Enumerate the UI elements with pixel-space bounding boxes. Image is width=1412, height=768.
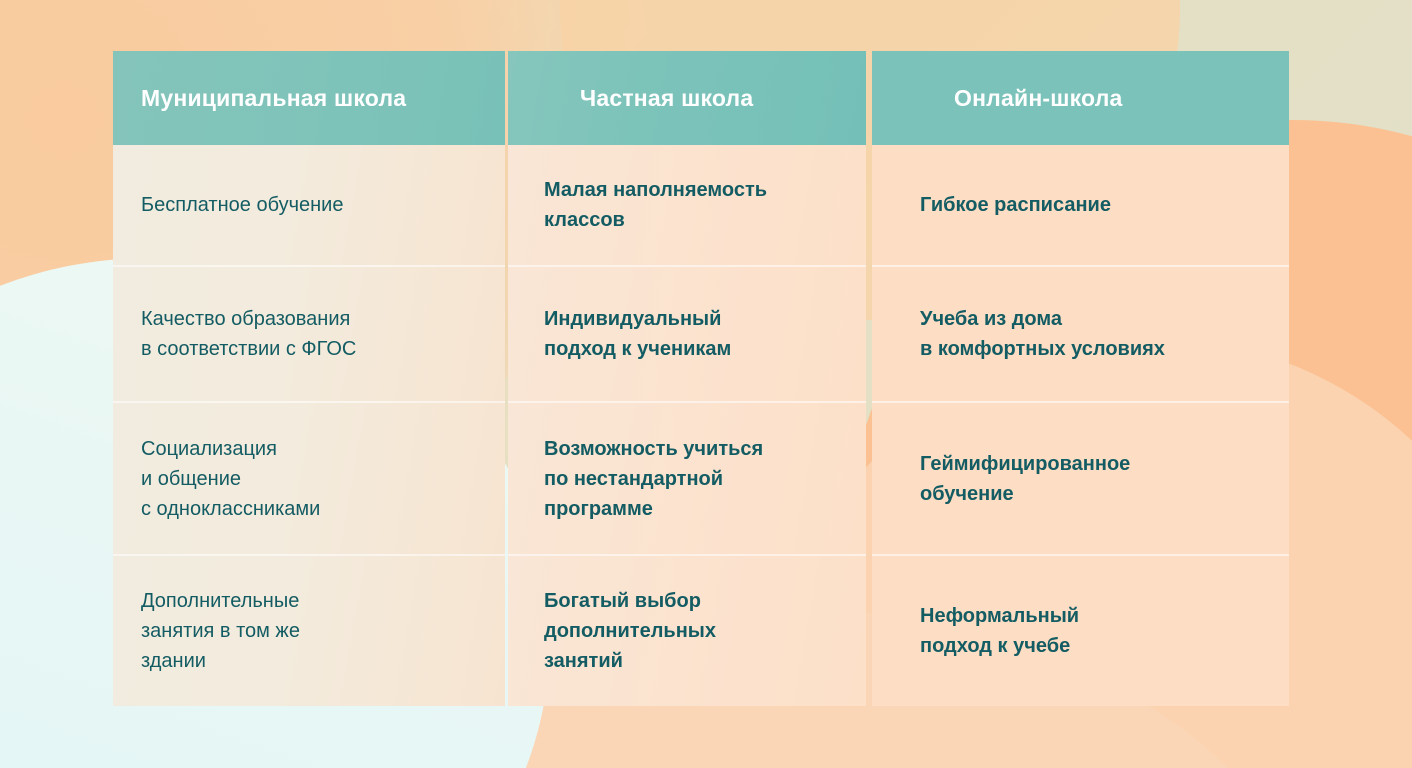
cell-line: Геймифицированное [920,449,1271,479]
cell-line: Возможность учиться [544,434,848,464]
table-cell: Богатый выбордополнительныхзанятий [508,556,866,706]
cell-line: по нестандартной [544,464,848,494]
table-cell: Гибкое расписание [872,145,1289,267]
column-header-2: Частная школа [508,51,866,145]
cell-line: здании [141,646,487,676]
cell-line: программе [544,494,848,524]
cell-line: Бесплатное обучение [141,190,487,220]
cell-line: с одноклассниками [141,494,487,524]
table-cell: Неформальныйподход к учебе [872,556,1289,706]
table-cell: Геймифицированноеобучение [872,403,1289,556]
table-cell: Возможность учитьсяпо нестандартнойпрогр… [508,403,866,556]
cell-line: Учеба из дома [920,304,1271,334]
cell-line: в соответствии с ФГОС [141,334,487,364]
comparison-table-wrapper: Муниципальная школаБесплатное обучениеКа… [113,51,1289,706]
cell-line: Дополнительные [141,586,487,616]
cell-line: Богатый выбор [544,586,848,616]
table-cell: Индивидуальныйподход к ученикам [508,267,866,403]
cell-line: Гибкое расписание [920,190,1271,220]
cell-line: в комфортных условиях [920,334,1271,364]
cell-line: Индивидуальный [544,304,848,334]
table-column-3: Онлайн-школаГибкое расписаниеУчеба из до… [869,51,1289,706]
cell-line: подход к учебе [920,631,1271,661]
cell-line: Неформальный [920,601,1271,631]
cell-line: и общение [141,464,487,494]
column-header-1: Муниципальная школа [113,51,505,145]
table-cell: Бесплатное обучение [113,145,505,267]
cell-line: занятий [544,646,848,676]
table-cell: Социализацияи общениес одноклассниками [113,403,505,556]
table-cell: Учеба из домав комфортных условиях [872,267,1289,403]
column-header-3: Онлайн-школа [872,51,1289,145]
table-column-2: Частная школаМалая наполняемостьклассовИ… [505,51,869,706]
cell-line: Малая наполняемость [544,175,848,205]
cell-line: занятия в том же [141,616,487,646]
table-cell: Дополнительныезанятия в том жездании [113,556,505,706]
cell-line: Качество образования [141,304,487,334]
cell-line: дополнительных [544,616,848,646]
cell-line: подход к ученикам [544,334,848,364]
cell-line: классов [544,205,848,235]
cell-line: обучение [920,479,1271,509]
table-column-1: Муниципальная школаБесплатное обучениеКа… [113,51,505,706]
cell-line: Социализация [141,434,487,464]
table-cell: Малая наполняемостьклассов [508,145,866,267]
comparison-table: Муниципальная школаБесплатное обучениеКа… [113,51,1289,706]
table-cell: Качество образованияв соответствии с ФГО… [113,267,505,403]
